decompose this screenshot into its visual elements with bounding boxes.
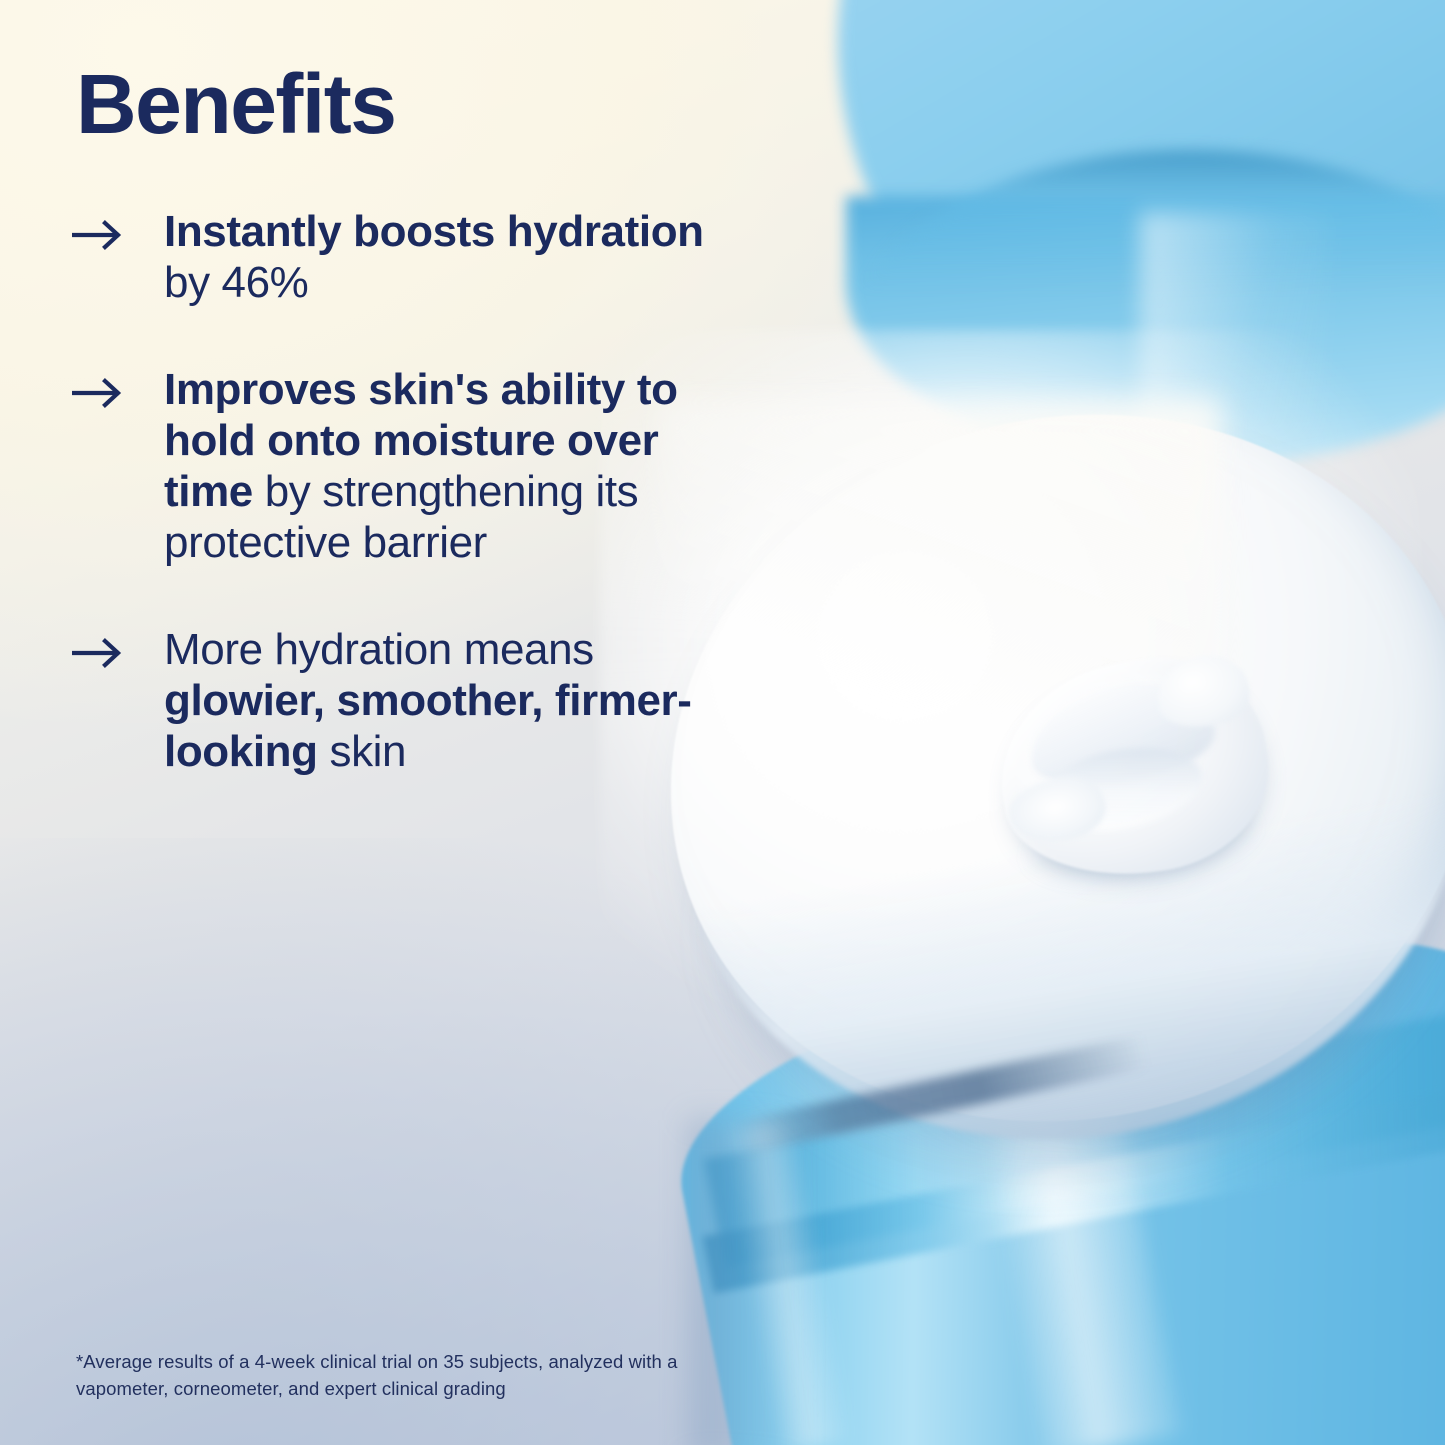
benefit-text: Instantly boosts hydration by 46% bbox=[164, 206, 712, 308]
benefit-item: Instantly boosts hydration by 46% bbox=[72, 206, 712, 308]
benefit-regular-text: by 46% bbox=[164, 258, 308, 307]
benefit-bold-text: glowier, smoother, firmer-looking bbox=[164, 676, 692, 776]
benefit-text: More hydration means glowier, smoother, … bbox=[164, 624, 712, 777]
text-column: Benefits Instantly boosts hydration by 4… bbox=[0, 0, 720, 1445]
benefit-item: Improves skin's ability to hold onto moi… bbox=[72, 364, 712, 568]
arrow-right-icon bbox=[72, 364, 164, 408]
benefits-list: Instantly boosts hydration by 46% Improv… bbox=[72, 206, 712, 777]
footnote-disclaimer: *Average results of a 4-week clinical tr… bbox=[76, 1349, 726, 1403]
benefit-text: Improves skin's ability to hold onto moi… bbox=[164, 364, 712, 568]
benefit-regular-text: More hydration means bbox=[164, 625, 594, 674]
arrow-right-icon bbox=[72, 206, 164, 250]
page-title: Benefits bbox=[76, 62, 395, 146]
arrow-right-icon bbox=[72, 624, 164, 668]
benefit-bold-text: Instantly boosts hydration bbox=[164, 207, 704, 256]
benefit-item: More hydration means glowier, smoother, … bbox=[72, 624, 712, 777]
marketing-image-canvas: Benefits Instantly boosts hydration by 4… bbox=[0, 0, 1445, 1445]
benefit-regular-text-end: skin bbox=[318, 727, 406, 776]
